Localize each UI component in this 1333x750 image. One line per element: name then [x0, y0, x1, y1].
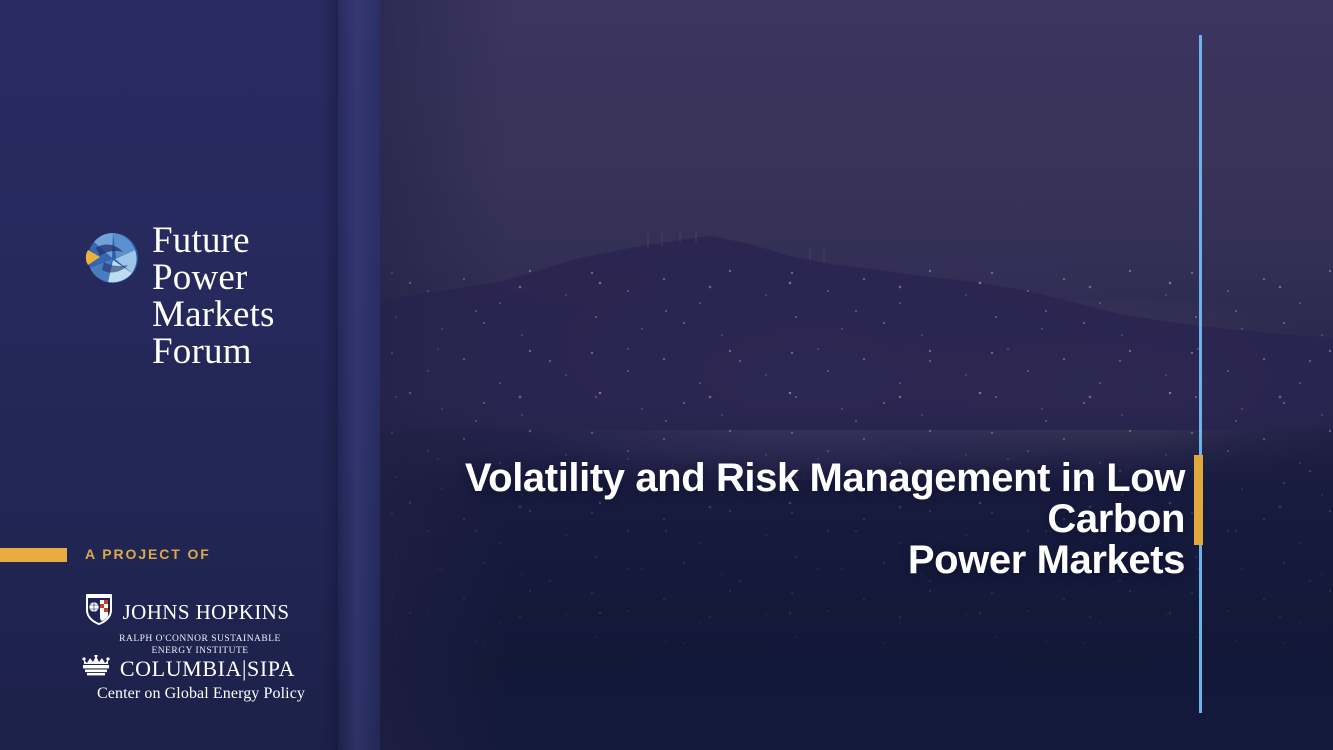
- project-of-label: A PROJECT OF: [85, 546, 211, 562]
- vertical-accent-rule: [1199, 35, 1202, 713]
- brand-name-line-4: Forum: [152, 333, 275, 370]
- page-title: Volatility and Risk Management in Low Ca…: [445, 458, 1185, 581]
- jhu-wordmark: JOHNS HOPKINS: [123, 601, 290, 623]
- brand-name-line-3: Markets: [152, 296, 275, 333]
- partner-logo-columbia-sipa: COLUMBIA|SIPA Center on Global Energy Po…: [0, 655, 380, 703]
- title-line-2: Power Markets: [445, 540, 1185, 581]
- gold-accent-rule: [1194, 455, 1203, 545]
- jhu-sub-line-1: RALPH O'CONNOR SUSTAINABLE: [20, 633, 380, 645]
- brand-name: Future Power Markets Forum: [152, 222, 275, 370]
- brand-name-line-2: Power: [152, 259, 275, 296]
- fpmf-globe-icon: [82, 228, 142, 293]
- project-accent-bar: [0, 548, 67, 562]
- photo-left-fade: [380, 0, 510, 750]
- cgep-sub-line: Center on Global Energy Policy: [22, 685, 380, 703]
- background-photo-night-cityscape: [380, 0, 1333, 750]
- jhu-shield-icon: [83, 592, 115, 631]
- partner-logo-johns-hopkins: JOHNS HOPKINS RALPH O'CONNOR SUSTAINABLE…: [0, 592, 380, 657]
- title-line-1: Volatility and Risk Management in Low Ca…: [445, 458, 1185, 540]
- title-slide: Volatility and Risk Management in Low Ca…: [0, 0, 1333, 750]
- columbia-sipa-wordmark: COLUMBIA|SIPA: [120, 657, 295, 680]
- columbia-crown-icon: [81, 655, 111, 682]
- brand-name-line-1: Future: [152, 222, 275, 259]
- sidebar: Future Power Markets Forum A PROJECT OF: [0, 0, 380, 750]
- brand-lockup: Future Power Markets Forum: [82, 222, 278, 370]
